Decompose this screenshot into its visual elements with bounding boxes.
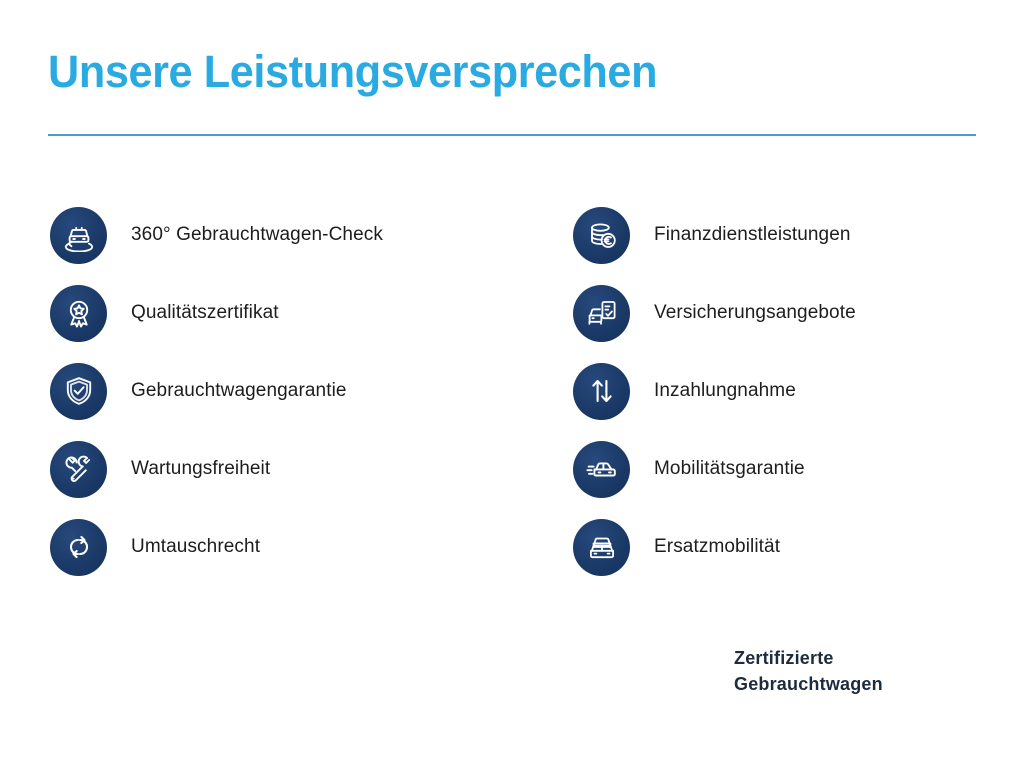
feature-label: Finanzdienstleistungen (654, 223, 851, 247)
award-rosette-icon (50, 285, 107, 342)
features-grid: 360° Gebrauchtwagen-Check Qualitätszerti… (0, 196, 1024, 586)
wrench-screwdriver-icon (50, 441, 107, 498)
footer-line-1: Zertifizierte (734, 645, 954, 671)
feature-item-insurance[interactable]: Versicherungsangebote (573, 274, 973, 352)
feature-item-warranty[interactable]: Gebrauchtwagengarantie (50, 352, 520, 430)
title-divider (48, 134, 976, 136)
car-motion-icon (573, 441, 630, 498)
up-down-arrows-icon (573, 363, 630, 420)
feature-label: 360° Gebrauchtwagen-Check (131, 223, 383, 247)
feature-item-360-check[interactable]: 360° Gebrauchtwagen-Check (50, 196, 520, 274)
feature-label: Gebrauchtwagengarantie (131, 379, 347, 403)
features-column-right: Finanzdienstleistungen Versicheru (573, 196, 973, 586)
two-cars-icon (573, 519, 630, 576)
feature-item-replacement-mobility[interactable]: Ersatzmobilität (573, 508, 973, 586)
feature-item-exchange-right[interactable]: Umtauschrecht (50, 508, 520, 586)
feature-label: Wartungsfreiheit (131, 457, 270, 481)
feature-label: Inzahlungnahme (654, 379, 796, 403)
feature-item-trade-in[interactable]: Inzahlungnahme (573, 352, 973, 430)
feature-label: Qualitätszertifikat (131, 301, 279, 325)
page-title: Unsere Leistungsversprechen (48, 46, 939, 98)
feature-item-mobility-guarantee[interactable]: Mobilitätsgarantie (573, 430, 973, 508)
feature-item-financial-services[interactable]: Finanzdienstleistungen (573, 196, 973, 274)
features-column-left: 360° Gebrauchtwagen-Check Qualitätszerti… (50, 196, 520, 586)
feature-item-quality-certificate[interactable]: Qualitätszertifikat (50, 274, 520, 352)
shield-check-icon (50, 363, 107, 420)
feature-item-maintenance-free[interactable]: Wartungsfreiheit (50, 430, 520, 508)
slide-root: Unsere Leistungsversprechen 360° Gebrauc… (0, 0, 1024, 768)
exchange-arrows-icon (50, 519, 107, 576)
header: Unsere Leistungsversprechen (48, 46, 976, 98)
certified-used-cars-badge: Zertifizierte Gebrauchtwagen (734, 645, 954, 697)
footer-line-2: Gebrauchtwagen (734, 671, 954, 697)
feature-label: Umtauschrecht (131, 535, 260, 559)
feature-label: Versicherungsangebote (654, 301, 856, 325)
feature-label: Mobilitätsgarantie (654, 457, 805, 481)
feature-label: Ersatzmobilität (654, 535, 780, 559)
car-document-check-icon (573, 285, 630, 342)
coins-euro-icon (573, 207, 630, 264)
car-360-check-icon (50, 207, 107, 264)
